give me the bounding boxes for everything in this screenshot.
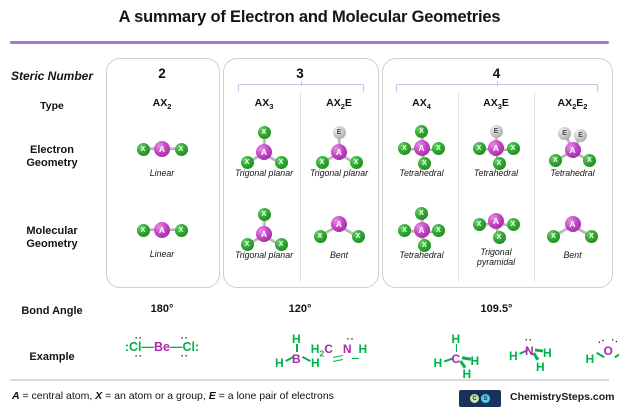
atom-a: A	[565, 142, 581, 158]
electron-geometry-ax2: X X A Linear	[106, 132, 218, 178]
type-tail: E	[345, 97, 352, 109]
atom-label-h: H	[275, 357, 284, 369]
logo-circle-right: S	[481, 394, 490, 403]
type-label-ax2e: AX2E	[301, 97, 377, 111]
lone-pair-dots: ··	[135, 334, 143, 343]
electron-geometry-caption: Tetrahedral	[385, 168, 458, 178]
legend-symbol-a: A	[12, 390, 20, 402]
atom-x: X	[549, 154, 562, 167]
atom-x: X	[137, 224, 150, 237]
atom-x: X	[241, 156, 254, 169]
atom-e: E	[333, 126, 346, 139]
electron-geometry-ax2e: E X X A Trigonal planar	[301, 120, 377, 178]
lone-pair-dots: ··	[181, 334, 189, 343]
electron-geometry-ax3e: E X X X A Tetrahedral	[458, 120, 534, 178]
type-tail: E	[502, 97, 509, 109]
atom-a: A	[414, 222, 430, 238]
row-label-example: Example	[0, 351, 104, 364]
molecular-geometry-ax3e: X X X A Trigonal pyramidal	[458, 207, 534, 267]
atom-x: X	[275, 238, 288, 251]
example-ch4: H H C H H	[385, 333, 458, 385]
legend-text-x: = an atom or a group,	[102, 390, 209, 402]
atom-x: X	[432, 142, 445, 155]
example-imine: ·· H2CNH	[301, 340, 377, 358]
type-label-ax2: AX2	[106, 97, 218, 111]
lone-pair-dots: ··	[347, 335, 355, 344]
example-h2o: ·· ·· O H H	[534, 336, 611, 367]
brand-name[interactable]: ChemistrySteps.com	[510, 391, 614, 403]
atom-a: A	[331, 144, 347, 160]
atom-a: A	[154, 141, 170, 157]
atom-x: X	[507, 142, 520, 155]
row-label-type: Type	[0, 100, 104, 113]
molecular-geometry-ax2e2: X X A Bent	[534, 210, 611, 260]
legend-symbol-e: E	[209, 390, 216, 402]
atom-x: X	[547, 230, 560, 243]
electron-geometry-ax3: X X X A Trigonal planar	[227, 120, 301, 178]
footer-divider	[10, 379, 609, 381]
molecular-geometry-caption: Bent	[534, 250, 611, 260]
atom-x: X	[175, 224, 188, 237]
page-title: A summary of Electron and Molecular Geom…	[0, 8, 619, 27]
legend-text-e: = a lone pair of electrons	[216, 390, 334, 402]
atom-x: X	[418, 157, 431, 170]
atom-a: A	[565, 216, 581, 232]
bracket-steric-4	[396, 84, 598, 92]
electron-geometry-ax2e2: E E X X A Tetrahedral	[534, 120, 611, 178]
type-label-ax4: AX4	[385, 97, 458, 111]
bracket-steric-3	[238, 84, 364, 92]
type-main: AX	[483, 97, 498, 109]
atom-a: A	[256, 226, 272, 242]
electron-geometry-caption: Trigonal planar	[301, 168, 377, 178]
atom-x: X	[418, 239, 431, 252]
atom-x: X	[398, 224, 411, 237]
atom-x: X	[137, 143, 150, 156]
molecular-geometry-caption: Tetrahedral	[385, 250, 458, 260]
infographic-page: A summary of Electron and Molecular Geom…	[0, 0, 619, 412]
row-label-molecular-geometry: Molecular Geometry	[0, 225, 104, 251]
bond-angle-steric-4: 109.5°	[382, 303, 611, 315]
electron-geometry-caption: Tetrahedral	[534, 168, 611, 178]
type-label-ax3: AX3	[227, 97, 301, 111]
atom-x: X	[432, 224, 445, 237]
example-becl2: ·· ·· ·· ·· :Cl—Be—Cl:	[106, 338, 218, 356]
legend-text-a: = central atom,	[20, 390, 96, 402]
steric-number-2: 2	[106, 66, 218, 81]
atom-x: X	[241, 238, 254, 251]
atom-label-n: N	[525, 345, 534, 357]
row-label-bond-angle: Bond Angle	[0, 305, 104, 318]
molecular-geometry-caption: Trigonal planar	[227, 250, 301, 260]
atom-label-b: B	[292, 353, 301, 365]
atom-x: X	[350, 156, 363, 169]
atom-x: X	[473, 142, 486, 155]
electron-geometry-caption: Tetrahedral	[458, 168, 534, 178]
atom-x: X	[175, 143, 188, 156]
atom-label-n: N	[343, 342, 352, 356]
atom-a: A	[488, 213, 504, 229]
example-bh3: H H B H	[227, 333, 301, 373]
logo-circle-left: C	[470, 394, 479, 403]
type-main: AX	[412, 97, 427, 109]
bond-angle-steric-3: 120°	[223, 303, 377, 315]
molecular-geometry-ax4: X X X X A Tetrahedral	[385, 202, 458, 260]
steric-number-4: 4	[382, 66, 611, 81]
atom-x: X	[275, 156, 288, 169]
atom-x: X	[258, 208, 271, 221]
type-label-ax3e: AX3E	[458, 97, 534, 111]
atom-x: X	[258, 126, 271, 139]
type-sub: 4	[427, 102, 431, 111]
type-main: AX	[558, 97, 573, 109]
atom-label-h: H	[509, 350, 518, 362]
bond-dash: —	[142, 340, 155, 354]
molecular-geometry-ax3: X X X A Trigonal planar	[227, 202, 301, 260]
legend-text: A = central atom, X = an atom or a group…	[12, 390, 334, 402]
atom-x: X	[415, 207, 428, 220]
atom-label-be: Be	[154, 340, 170, 354]
atom-x: X	[583, 154, 596, 167]
atom-a: A	[414, 140, 430, 156]
electron-geometry-ax4: X X X X A Tetrahedral	[385, 120, 458, 178]
example-nh3: ·· H N H H	[458, 336, 534, 377]
lone-pair-dots: ··	[181, 352, 189, 361]
atom-a: A	[256, 144, 272, 160]
steric-number-3: 3	[223, 66, 377, 81]
atom-a: A	[488, 140, 504, 156]
row-label-steric-number: Steric Number	[0, 70, 104, 83]
atom-x: X	[493, 157, 506, 170]
atom-x: X	[398, 142, 411, 155]
molecular-geometry-ax2e: X X A Bent	[301, 210, 377, 260]
type-main: AX	[255, 97, 270, 109]
brand-logo[interactable]: C S	[459, 390, 501, 407]
atom-x: X	[316, 156, 329, 169]
atom-x: X	[314, 230, 327, 243]
atom-e: E	[574, 129, 587, 142]
atom-e: E	[558, 127, 571, 140]
bond-angle-steric-2: 180°	[106, 303, 218, 315]
molecular-geometry-ax2: X X A Linear	[106, 213, 218, 259]
atom-label-h: H	[434, 357, 443, 369]
molecular-geometry-caption: Trigonal pyramidal	[458, 247, 534, 267]
atom-a: A	[154, 222, 170, 238]
title-divider	[10, 41, 609, 44]
type-main: AX	[326, 97, 341, 109]
atom-x: X	[493, 231, 506, 244]
atom-x: X	[415, 125, 428, 138]
molecular-geometry-caption: Linear	[106, 249, 218, 259]
atom-x: X	[352, 230, 365, 243]
electron-geometry-caption: Trigonal planar	[227, 168, 301, 178]
atom-label-h: H	[586, 353, 595, 365]
atom-label-h: H	[359, 342, 368, 356]
type-main: AX	[153, 97, 168, 109]
atom-x: X	[473, 218, 486, 231]
atom-x: X	[585, 230, 598, 243]
type-sub: 3	[269, 102, 273, 111]
molecular-geometry-caption: Bent	[301, 250, 377, 260]
row-label-electron-geometry: Electron Geometry	[0, 144, 104, 170]
electron-geometry-caption: Linear	[106, 168, 218, 178]
atom-x: X	[507, 218, 520, 231]
atom-label-h: H	[311, 357, 320, 369]
atom-e: E	[490, 125, 503, 138]
type-tail-sub: 2	[583, 102, 587, 111]
lone-pair-dots: ··	[135, 352, 143, 361]
type-label-ax2e2: AX2E2	[534, 97, 611, 111]
atom-label-o: O	[604, 345, 613, 357]
type-sub: 2	[167, 102, 171, 111]
atom-a: A	[331, 216, 347, 232]
atom-label-c: C	[324, 342, 333, 356]
